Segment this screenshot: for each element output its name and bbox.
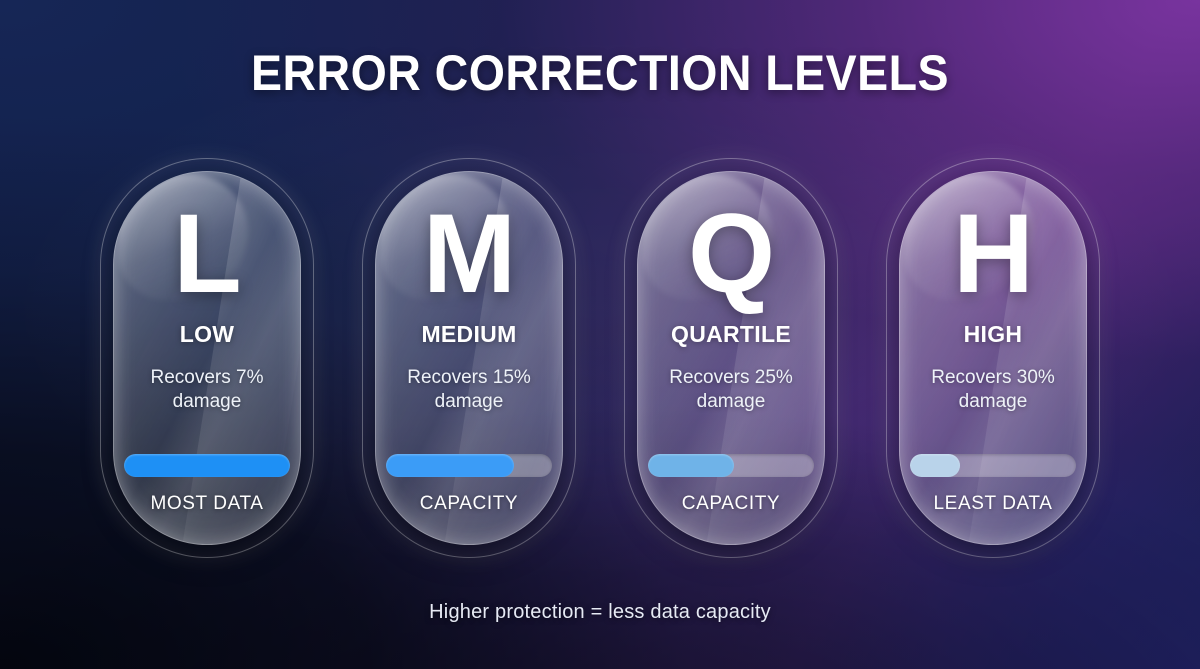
level-letter: Q [688,202,774,305]
page-title: ERROR CORRECTION LEVELS [42,44,1158,102]
error-correction-card-row: L LOW Recovers 7% damage MOST DATA M MED… [100,158,1100,558]
level-name: LOW [180,321,235,348]
infographic-canvas: ERROR CORRECTION LEVELS L LOW Recovers 7… [0,0,1200,669]
recovery-text: Recovers 7% damage [122,366,292,415]
recovery-text: Recovers 30% damage [908,366,1078,415]
card-content: H HIGH Recovers 30% damage [886,158,1100,558]
card-content: Q QUARTILE Recovers 25% damage [624,158,838,558]
level-letter: L [173,202,240,305]
level-letter: H [953,202,1033,305]
level-name: HIGH [964,321,1023,348]
card-low[interactable]: L LOW Recovers 7% damage MOST DATA [100,158,314,558]
footer-caption: Higher protection = less data capacity [0,601,1200,624]
card-medium[interactable]: M MEDIUM Recovers 15% damage CAPACITY [362,158,576,558]
recovery-text: Recovers 25% damage [646,366,816,415]
card-content: M MEDIUM Recovers 15% damage [362,158,576,558]
level-name: MEDIUM [421,321,516,348]
card-quartile[interactable]: Q QUARTILE Recovers 25% damage CAPACITY [624,158,838,558]
level-name: QUARTILE [671,321,791,348]
card-high[interactable]: H HIGH Recovers 30% damage LEAST DATA [886,158,1100,558]
card-content: L LOW Recovers 7% damage [100,158,314,558]
level-letter: M [423,202,515,305]
recovery-text: Recovers 15% damage [384,366,554,415]
